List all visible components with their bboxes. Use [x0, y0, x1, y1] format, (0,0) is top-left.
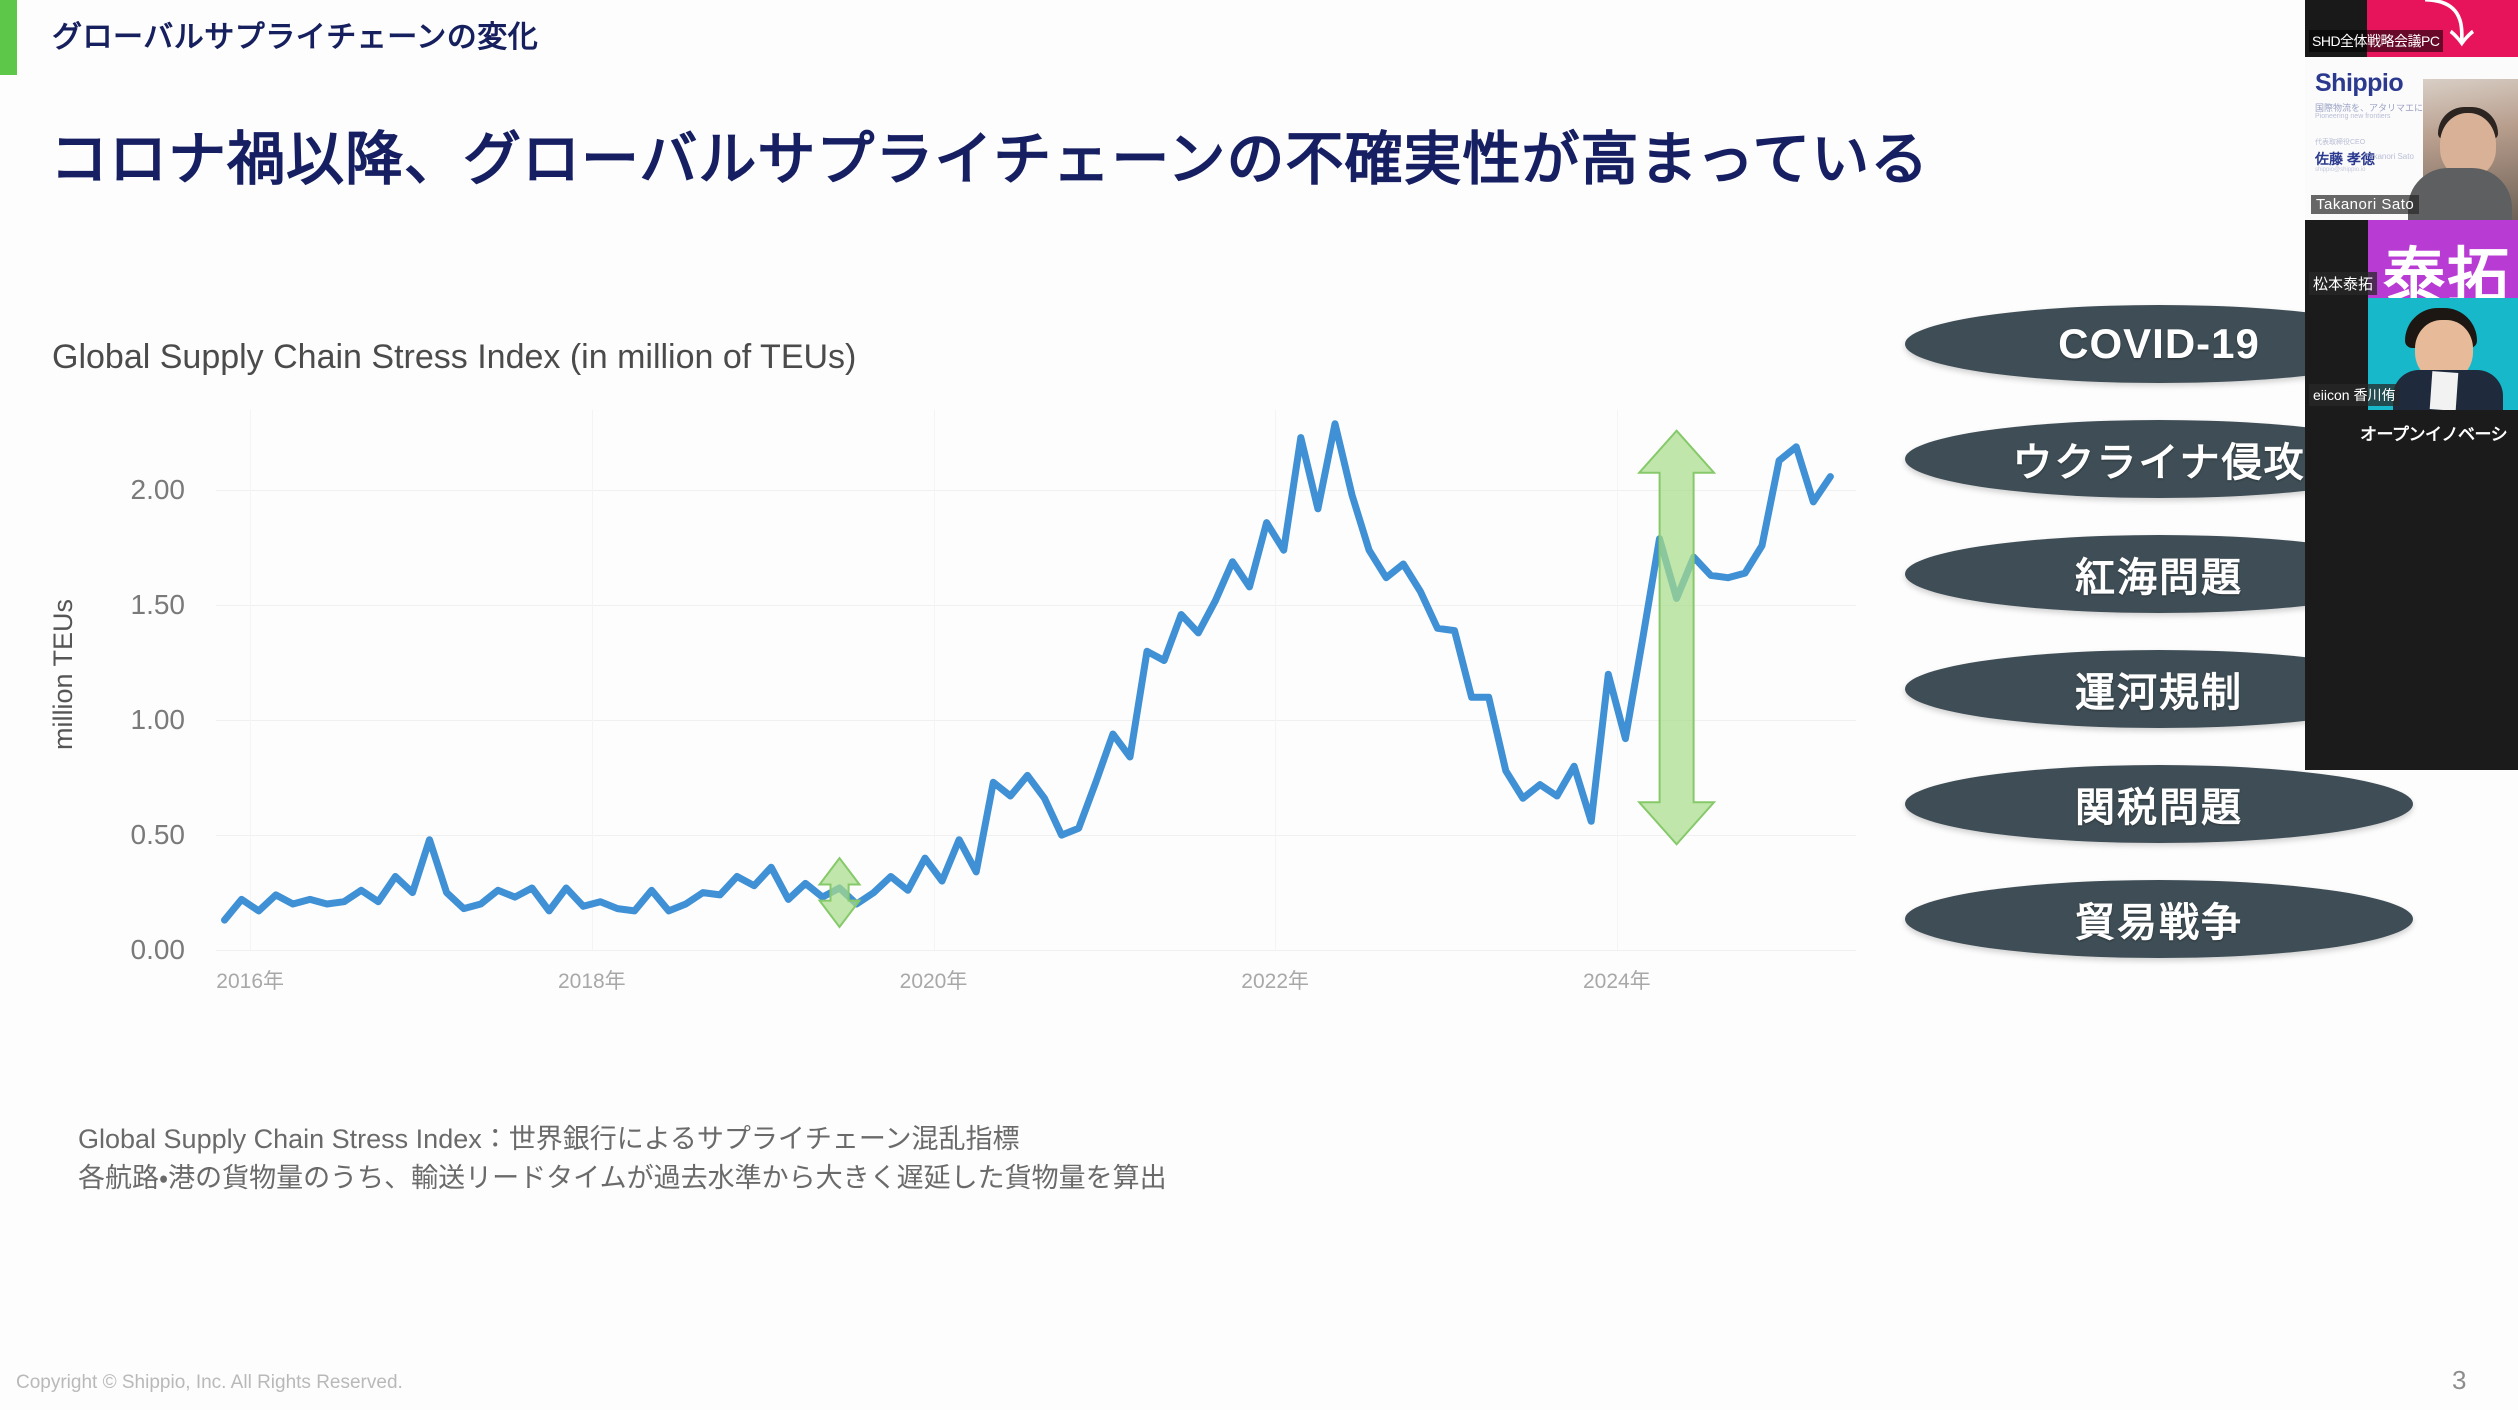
shippio-tagline-en: Pioneering new frontiers [2315, 113, 2391, 120]
chart-x-axis-ticks: 2016年2018年2020年2022年2024年 [216, 965, 1856, 1005]
chart-line-series [225, 424, 1831, 920]
event-pill-label: 運河規制 [2075, 660, 2243, 718]
video-tile-2-caption: Takanori Sato [2311, 195, 2419, 214]
speaker-role: 代表取締役CEO [2315, 137, 2365, 147]
shippio-logo-text: Shippio [2315, 69, 2403, 98]
video-tile-3-caption-a: 松本泰拓 [2309, 272, 2377, 295]
event-pill-6: 貿易戦争 [1905, 880, 2413, 958]
chart-y-tick-label: 0.00 [75, 934, 185, 966]
video-call-overlay[interactable]: ⤵ SHD全体戦略会議PC Shippio 国際物流を、アタリマエに。 Pion… [2305, 0, 2518, 770]
chart-y-tick-label: 0.50 [75, 819, 185, 851]
event-pill-label: COVID-19 [2058, 320, 2260, 368]
event-pill-label: 貿易戦争 [2075, 890, 2243, 948]
event-pill-label: 紅海問題 [2075, 545, 2243, 603]
chart-gridline-h [216, 950, 1856, 951]
video-tile-matsumoto-kagawa[interactable]: 泰拓 松本泰拓 eiicon 香川侑 [2305, 220, 2518, 410]
video-tile-1-caption: SHD全体戦略会議PC [2309, 30, 2443, 52]
chart-x-tick-label: 2020年 [900, 965, 968, 995]
chart-x-tick-label: 2022年 [1241, 965, 1309, 995]
chart-y-axis-ticks: 0.000.501.001.502.00 [75, 320, 185, 1080]
chart-x-tick-label: 2018年 [558, 965, 626, 995]
video-tile-takanori-sato[interactable]: Shippio 国際物流を、アタリマエに。 Pioneering new fro… [2305, 57, 2518, 220]
slide-headline: コロナ禍以降、グローバルサプライチェーンの不確実性が高まっている [50, 112, 1929, 196]
chart-x-tick-label: 2016年 [216, 965, 284, 995]
avatar-torso [2408, 168, 2512, 220]
chart-y-tick-label: 1.00 [75, 704, 185, 736]
slide-eyebrow: グローバルサプライチェーンの変化 [52, 12, 538, 56]
footnote-line-2: 各航路・港の貨物量のうち、輸送リードタイムが過去水準から大きく遅延した貨物量を算… [78, 1159, 1167, 1198]
page-number: 3 [2452, 1365, 2466, 1396]
accent-bar [0, 0, 17, 75]
chart-x-tick-label: 2024年 [1583, 965, 1651, 995]
chart-series-svg [216, 410, 1856, 950]
event-pill-label: ウクライナ侵攻 [2012, 430, 2305, 488]
chart-y-tick-label: 2.00 [75, 474, 185, 506]
video-tile-3-caption-b: eiicon 香川侑 [2309, 384, 2399, 406]
footnote-line-1: Global Supply Chain Stress Index：世界銀行による… [78, 1120, 1167, 1159]
speaker-name-roman: Takanori Sato [2365, 152, 2414, 161]
video-tile-4-caption: オープンイノベーシ [2360, 420, 2507, 445]
participant-webcam-image [2423, 79, 2518, 220]
slide-canvas: グローバルサプライチェーンの変化 コロナ禍以降、グローバルサプライチェーンの不確… [0, 0, 2518, 1410]
avatar2-shirt [2430, 371, 2459, 410]
event-pill-5: 関税問題 [1905, 765, 2413, 843]
copyright-notice: Copyright © Shippio, Inc. All Rights Res… [16, 1372, 403, 1394]
speaker-email: shippio@shippio.io [2315, 167, 2365, 173]
chart-y-tick-label: 1.50 [75, 589, 185, 621]
chart-footnote: Global Supply Chain Stress Index：世界銀行による… [78, 1120, 1167, 1198]
video-tile-open-innovation[interactable]: オープンイノベーシ [2305, 410, 2518, 770]
chart-container: Global Supply Chain Stress Index (in mil… [0, 320, 1900, 1080]
event-pill-label: 関税問題 [2075, 775, 2243, 833]
chart-plot-area [216, 410, 1856, 950]
chart-annotation-double-arrow-2 [1639, 431, 1714, 845]
video-tile-screenshare[interactable]: ⤵ SHD全体戦略会議PC [2305, 0, 2518, 57]
